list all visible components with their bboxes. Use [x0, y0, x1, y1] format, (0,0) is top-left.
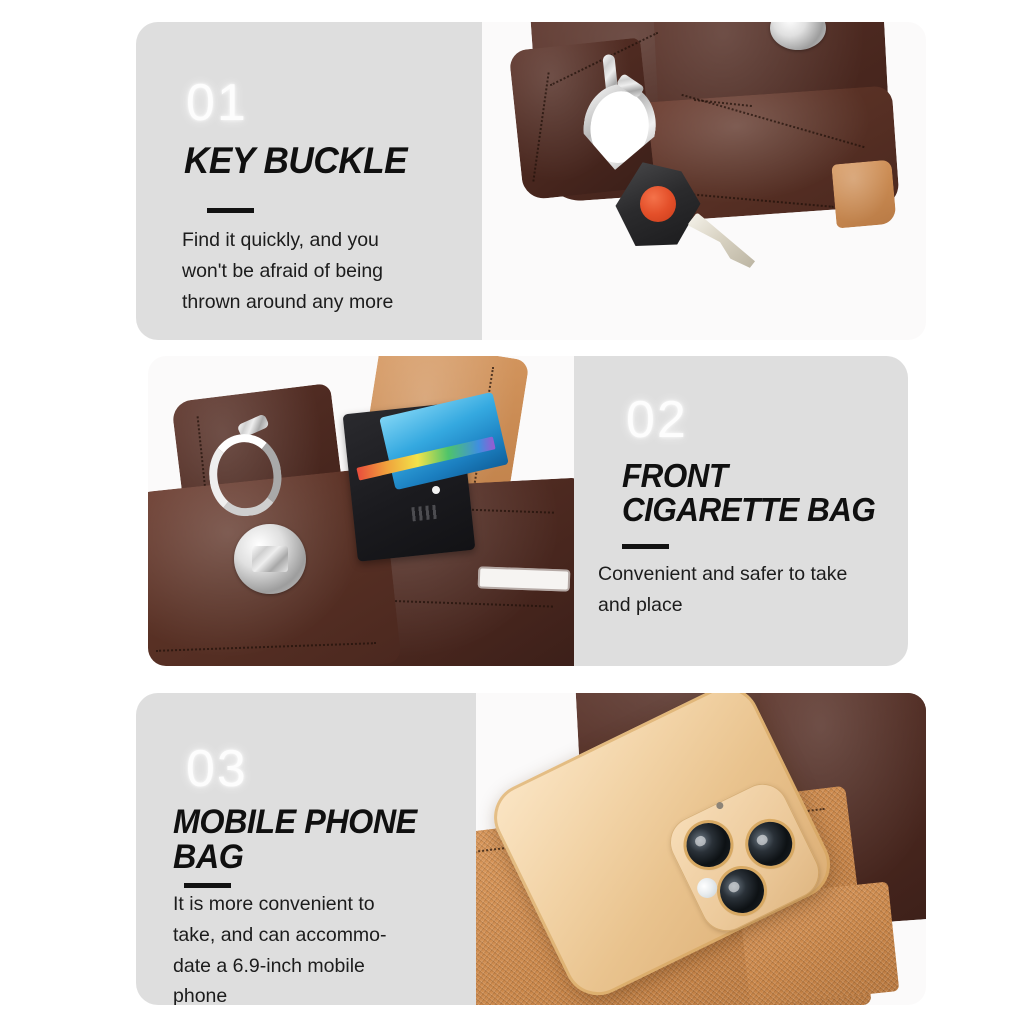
feature-caption-01: 01 KEY BUCKLE Find it quickly, and you w… — [136, 22, 482, 340]
feature-divider-01 — [207, 208, 254, 213]
feature-description-03: It is more convenient to take, and can a… — [173, 889, 473, 1005]
feature-divider-02 — [622, 544, 669, 549]
feature-title-01: KEY BUCKLE — [184, 142, 407, 180]
infographic-page: 01 KEY BUCKLE Find it quickly, and you w… — [0, 0, 1024, 1024]
feature-panel-02: 02 FRONT CIGARETTE BAG Convenient and sa… — [148, 356, 908, 666]
pack-vents — [411, 505, 438, 522]
key-carabiner-icon — [577, 52, 663, 169]
feature-number-03: 03 — [186, 743, 248, 795]
feature-title-03: MOBILE PHONE BAG — [173, 805, 417, 875]
feature-caption-02: 02 FRONT CIGARETTE BAG Convenient and sa… — [574, 356, 908, 666]
pack-highlight — [432, 486, 440, 494]
snap-bar — [252, 546, 288, 572]
feature-description-01: Find it quickly, and you won't be afraid… — [182, 225, 474, 317]
suede-edge — [831, 160, 896, 229]
feature-panel-01: 01 KEY BUCKLE Find it quickly, and you w… — [136, 22, 926, 340]
feature-photo-01 — [478, 22, 926, 340]
carabiner-icon — [204, 416, 287, 509]
key-fob-button — [640, 186, 676, 222]
feature-panel-03: 03 MOBILE PHONE BAG It is more convenien… — [136, 693, 926, 1005]
feature-photo-02 — [148, 356, 580, 666]
belt-slot — [478, 566, 571, 591]
feature-caption-03: 03 MOBILE PHONE BAG It is more convenien… — [136, 693, 476, 1005]
feature-number-01: 01 — [186, 77, 248, 129]
feature-photo-03 — [466, 693, 926, 1005]
feature-title-02: FRONT CIGARETTE BAG — [622, 459, 875, 527]
feature-description-02: Convenient and safer to take and place — [598, 559, 908, 621]
feature-number-02: 02 — [626, 394, 688, 446]
feature-divider-03 — [184, 883, 231, 888]
key-blade — [687, 212, 757, 271]
